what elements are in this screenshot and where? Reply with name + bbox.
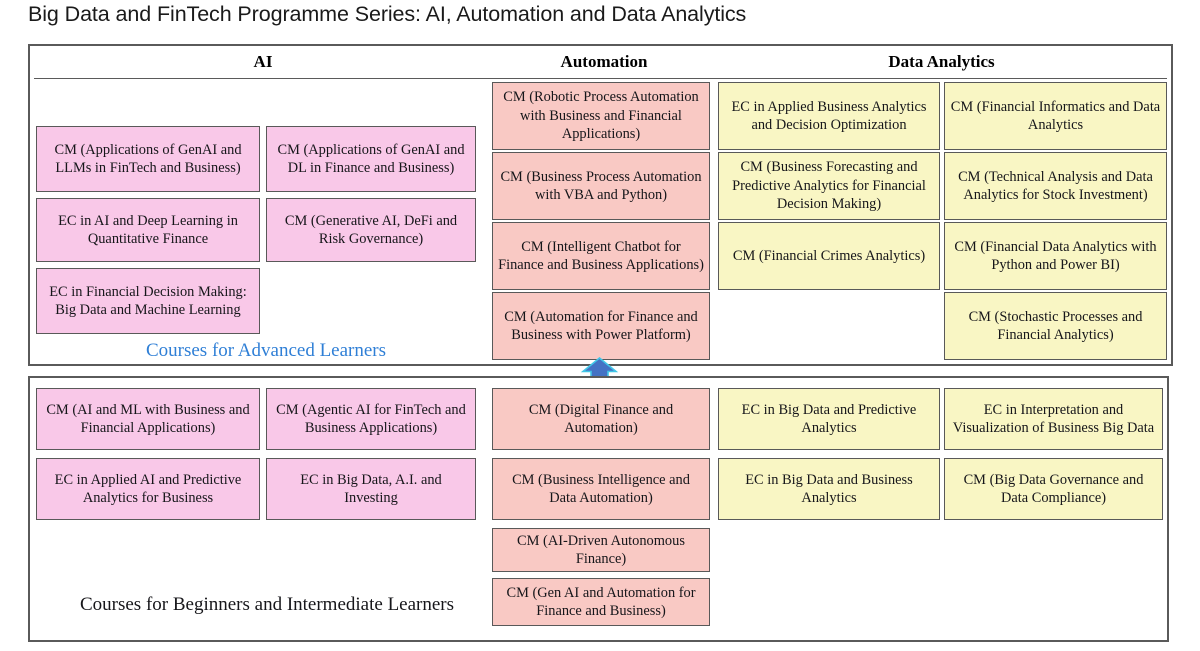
course-card[interactable]: CM (Applications of GenAI and LLMs in Fi… bbox=[36, 126, 260, 192]
course-card[interactable]: EC in Big Data, A.I. and Investing bbox=[266, 458, 476, 520]
advanced-learners-caption: Courses for Advanced Learners bbox=[36, 340, 496, 362]
course-card[interactable]: CM (Financial Crimes Analytics) bbox=[718, 222, 940, 290]
course-card[interactable]: EC in Big Data and Business Analytics bbox=[718, 458, 940, 520]
course-card[interactable]: CM (Robotic Process Automation with Busi… bbox=[492, 82, 710, 150]
course-card[interactable]: CM (Gen AI and Automation for Finance an… bbox=[492, 578, 710, 626]
course-card[interactable]: CM (Intelligent Chatbot for Finance and … bbox=[492, 222, 710, 290]
course-card[interactable]: CM (Stochastic Processes and Financial A… bbox=[944, 292, 1167, 360]
course-card[interactable]: CM (Big Data Governance and Data Complia… bbox=[944, 458, 1163, 520]
course-card[interactable]: EC in Financial Decision Making: Big Dat… bbox=[36, 268, 260, 334]
course-card[interactable]: CM (Financial Informatics and Data Analy… bbox=[944, 82, 1167, 150]
course-card[interactable]: CM (Technical Analysis and Data Analytic… bbox=[944, 152, 1167, 220]
column-header-data-analytics: Data Analytics bbox=[716, 52, 1167, 72]
page-title: Big Data and FinTech Programme Series: A… bbox=[28, 2, 746, 27]
beginner-learners-panel: CM (AI and ML with Business and Financia… bbox=[28, 376, 1169, 642]
course-card[interactable]: CM (Business Intelligence and Data Autom… bbox=[492, 458, 710, 520]
advanced-learners-panel: AI Automation Data Analytics CM (Applica… bbox=[28, 44, 1173, 366]
course-card[interactable]: CM (Digital Finance and Automation) bbox=[492, 388, 710, 450]
column-header-automation: Automation bbox=[492, 52, 716, 72]
beginner-learners-caption: Courses for Beginners and Intermediate L… bbox=[36, 594, 498, 616]
course-card[interactable]: CM (Business Process Automation with VBA… bbox=[492, 152, 710, 220]
course-card[interactable]: CM (Business Forecasting and Predictive … bbox=[718, 152, 940, 220]
header-divider bbox=[34, 78, 1167, 79]
course-card[interactable]: EC in Applied AI and Predictive Analytic… bbox=[36, 458, 260, 520]
course-card[interactable]: CM (AI and ML with Business and Financia… bbox=[36, 388, 260, 450]
course-card[interactable]: CM (AI-Driven Autonomous Finance) bbox=[492, 528, 710, 572]
course-card[interactable]: CM (Applications of GenAI and DL in Fina… bbox=[266, 126, 476, 192]
course-card[interactable]: EC in Interpretation and Visualization o… bbox=[944, 388, 1163, 450]
column-header-ai: AI bbox=[34, 52, 492, 72]
course-card[interactable]: CM (Financial Data Analytics with Python… bbox=[944, 222, 1167, 290]
course-card[interactable]: CM (Agentic AI for FinTech and Business … bbox=[266, 388, 476, 450]
course-card[interactable]: EC in Big Data and Predictive Analytics bbox=[718, 388, 940, 450]
course-card[interactable]: EC in AI and Deep Learning in Quantitati… bbox=[36, 198, 260, 262]
course-card[interactable]: EC in Applied Business Analytics and Dec… bbox=[718, 82, 940, 150]
course-card[interactable]: CM (Automation for Finance and Business … bbox=[492, 292, 710, 360]
course-card[interactable]: CM (Generative AI, DeFi and Risk Governa… bbox=[266, 198, 476, 262]
